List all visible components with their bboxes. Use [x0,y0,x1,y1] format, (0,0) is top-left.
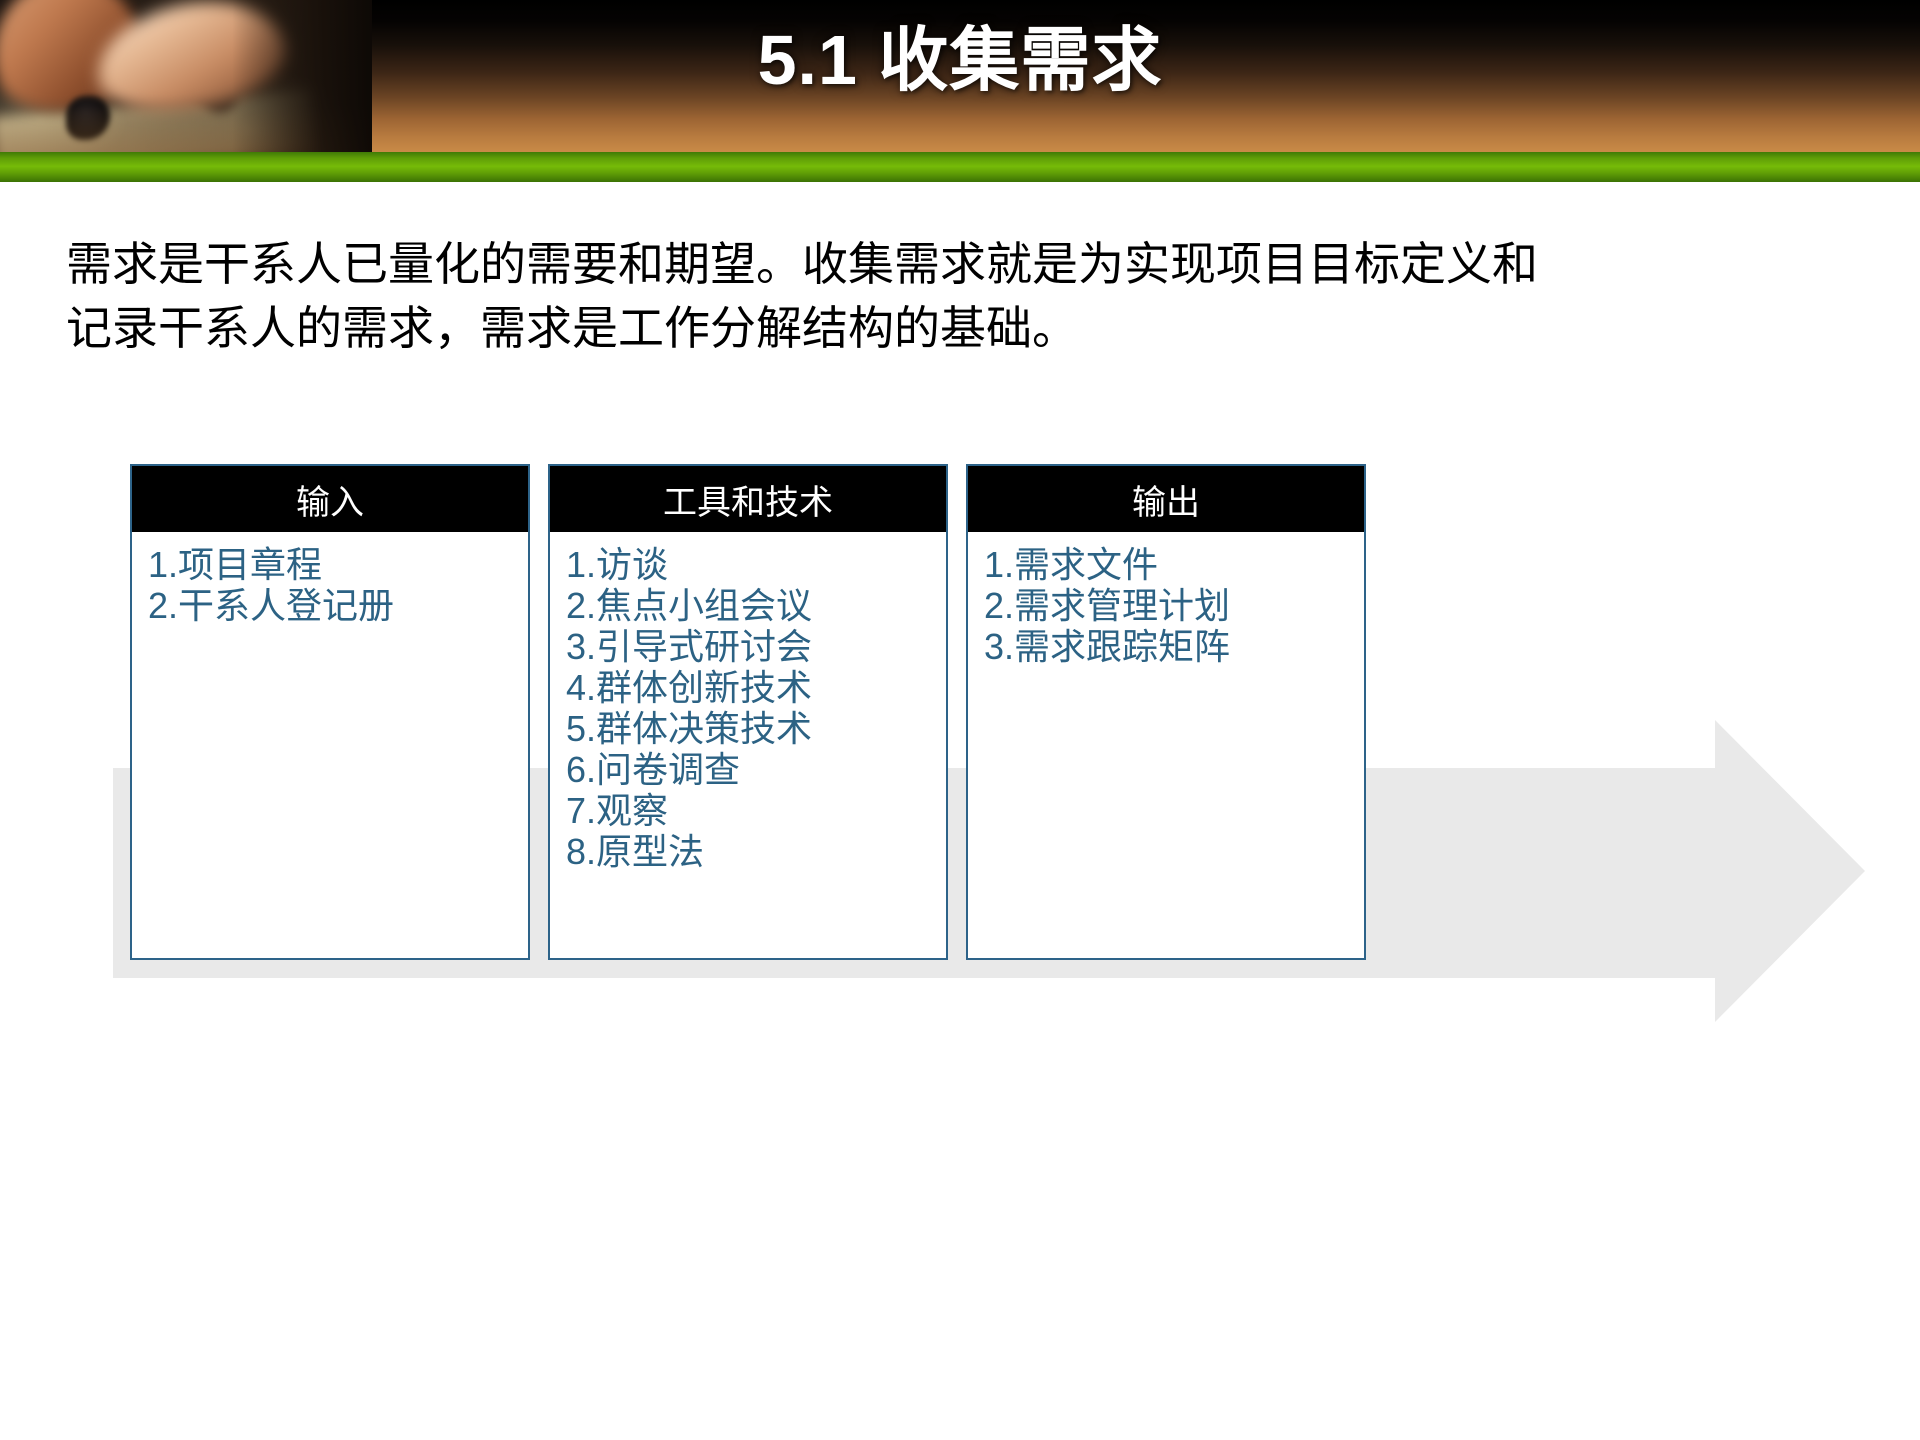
slide-header-band: 5.1 收集需求 [0,0,1920,152]
list-item: 2.干系人登记册 [148,585,528,626]
body-paragraph: 需求是干系人已量化的需要和期望。收集需求就是为实现项目目标定义和 记录干系人的需… [66,232,1876,360]
process-box-tools: 工具和技术 1.访谈 2.焦点小组会议 3.引导式研讨会 4.群体创新技术 5.… [548,464,948,960]
list-item: 7.观察 [566,790,946,831]
box-body-output: 1.需求文件 2.需求管理计划 3.需求跟踪矩阵 [968,532,1364,958]
list-item: 1.访谈 [566,544,946,585]
list-item: 4.群体创新技术 [566,667,946,708]
list-item: 1.需求文件 [984,544,1364,585]
process-box-output: 输出 1.需求文件 2.需求管理计划 3.需求跟踪矩阵 [966,464,1366,960]
process-box-input: 输入 1.项目章程 2.干系人登记册 [130,464,530,960]
green-divider-bar [0,152,1920,182]
paragraph-line-2: 记录干系人的需求，需求是工作分解结构的基础。 [66,296,1876,360]
list-item: 5.群体决策技术 [566,708,946,749]
box-header-output: 输出 [968,466,1364,532]
list-item: 2.需求管理计划 [984,585,1364,626]
box-body-input: 1.项目章程 2.干系人登记册 [132,532,528,958]
list-item: 8.原型法 [566,831,946,872]
box-header-input: 输入 [132,466,528,532]
list-item: 1.项目章程 [148,544,528,585]
list-item: 3.引导式研讨会 [566,626,946,667]
slide-title: 5.1 收集需求 [0,24,1920,98]
list-item: 6.问卷调查 [566,749,946,790]
list-item: 3.需求跟踪矩阵 [984,626,1364,667]
box-header-tools: 工具和技术 [550,466,946,532]
paragraph-line-1: 需求是干系人已量化的需要和期望。收集需求就是为实现项目目标定义和 [66,232,1876,296]
process-box-row: 输入 1.项目章程 2.干系人登记册 工具和技术 1.访谈 2.焦点小组会议 3… [130,464,1370,960]
box-body-tools: 1.访谈 2.焦点小组会议 3.引导式研讨会 4.群体创新技术 5.群体决策技术… [550,532,946,958]
list-item: 2.焦点小组会议 [566,585,946,626]
